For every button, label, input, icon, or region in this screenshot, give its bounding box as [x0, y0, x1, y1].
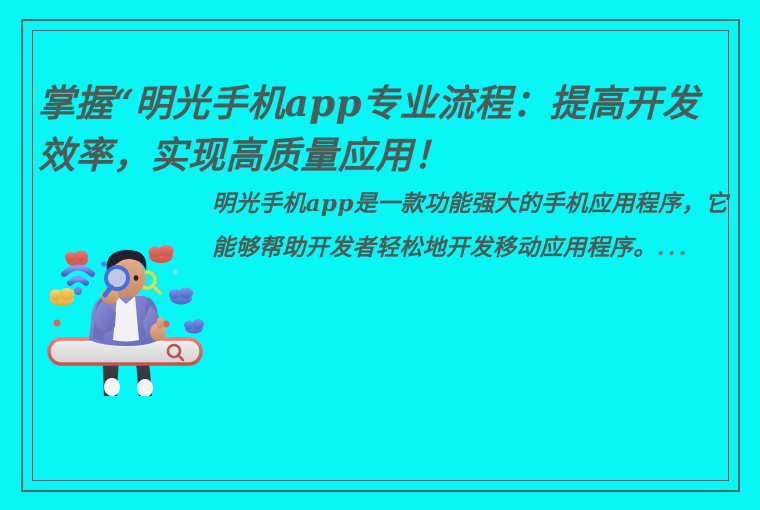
article-body: 明光手机app是一款功能强大的手机应用程序，它能够帮助开发者轻松地开发移动应用程… — [212, 182, 732, 270]
cloud-icon — [149, 245, 174, 263]
cloud-icon — [169, 288, 193, 305]
dot-icon — [54, 320, 61, 327]
page-root: 掌握“明光手机app专业流程：提高开发效率，实现高质量应用！ 明光手机app是一… — [0, 0, 760, 510]
dot-icon — [173, 270, 178, 275]
page-title: 掌握“明光手机app专业流程：提高开发效率，实现高质量应用！ — [38, 77, 736, 181]
hero-illustration — [44, 236, 206, 396]
cloud-icon — [50, 288, 75, 306]
article-body-ellipsis: ... — [657, 234, 690, 261]
cloud-icon — [65, 251, 88, 267]
character-body — [89, 296, 166, 346]
cloud-icon — [184, 319, 204, 334]
article-body-text: 明光手机app是一款功能强大的手机应用程序，它能够帮助开发者轻松地开发移动应用程… — [212, 190, 728, 261]
dot-icon — [101, 261, 107, 267]
